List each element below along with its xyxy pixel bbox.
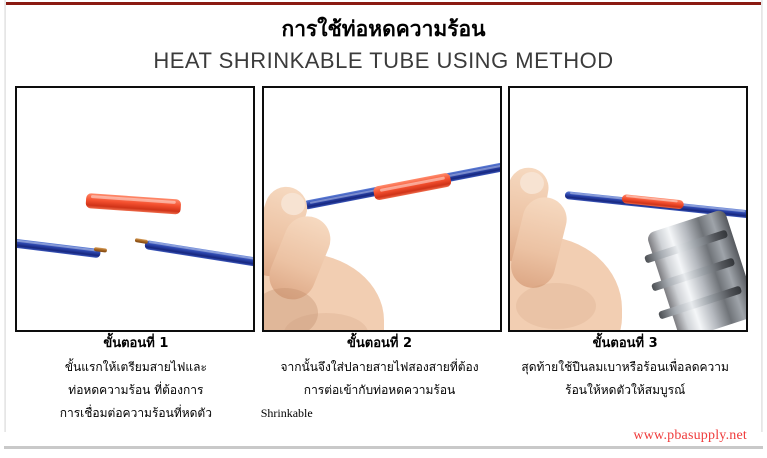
- caption-line-2-2: การต่อเข้ากับท่อหดความร้อน: [257, 379, 503, 402]
- caption-step-2: ขั้นตอนที่ 2 จากนั้นจึงใส่ปลายสายไฟสองสา…: [257, 334, 503, 425]
- page-frame-bottom: [4, 446, 763, 449]
- panel-step-1: [15, 86, 255, 332]
- caption-row: ขั้นตอนที่ 1 ขั้นแรกให้เตรียมสายไฟและ ท่…: [15, 334, 748, 425]
- top-accent-rule: [6, 2, 762, 5]
- caption-line-1-1: ขั้นแรกให้เตรียมสายไฟและ: [15, 356, 257, 379]
- copper-tip-right-icon: [135, 238, 148, 244]
- step-label-3: ขั้นตอนที่ 3: [502, 334, 748, 354]
- caption-line-2-1: จากนั้นจึงใส่ปลายสายไฟสองสายที่ต้อง: [257, 356, 503, 379]
- caption-extra-2: Shrinkable: [257, 402, 503, 424]
- panel-step-2: [262, 86, 502, 332]
- photo-step-2: [264, 88, 500, 330]
- step-label-1: ขั้นตอนที่ 1: [15, 334, 257, 354]
- photo-step-1: [17, 88, 253, 330]
- knuckle-shadow-icon: [516, 283, 596, 329]
- caption-line-3-1: สุดท้ายใช้ปืนลมเบาหรือร้อนเพื่อลดความ: [502, 356, 748, 379]
- panel-row: [15, 86, 748, 332]
- page-title-thai: การใช้ท่อหดความร้อน: [0, 16, 767, 42]
- page-root: การใช้ท่อหดความร้อน HEAT SHRINKABLE TUBE…: [0, 0, 767, 458]
- caption-line-1-2: ท่อหดความร้อน ที่ต้องการ: [15, 379, 257, 402]
- caption-line-1-3: การเชื่อมต่อความร้อนที่หดตัว: [15, 402, 257, 425]
- step-label-2: ขั้นตอนที่ 2: [257, 334, 503, 354]
- caption-step-3: ขั้นตอนที่ 3 สุดท้ายใช้ปืนลมเบาหรือร้อนเ…: [502, 334, 748, 425]
- page-subtitle-english: HEAT SHRINKABLE TUBE USING METHOD: [0, 48, 767, 74]
- photo-step-3: [510, 88, 746, 330]
- caption-step-1: ขั้นตอนที่ 1 ขั้นแรกให้เตรียมสายไฟและ ท่…: [15, 334, 257, 425]
- panel-step-3: [508, 86, 748, 332]
- website-url[interactable]: www.pbasupply.net: [633, 428, 747, 444]
- caption-line-3-2: ร้อนให้หดตัวให้สมบูรณ์: [502, 379, 748, 402]
